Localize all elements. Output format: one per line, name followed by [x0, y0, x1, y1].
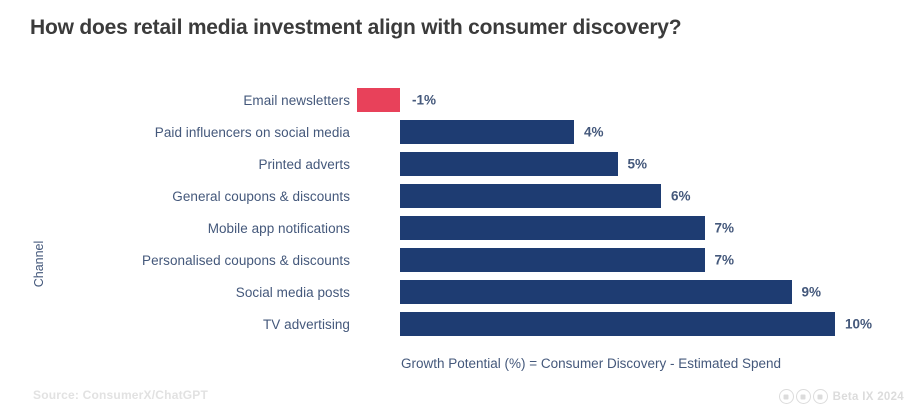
bar[interactable]	[400, 184, 661, 208]
bar-value-label: 9%	[802, 285, 822, 300]
bar-value-label: 6%	[671, 189, 691, 204]
bar-track: 7%	[0, 212, 912, 244]
plot-area: Channel Email newsletters-1%Paid influen…	[0, 84, 912, 352]
bar[interactable]	[400, 216, 705, 240]
bar-row: Mobile app notifications7%	[0, 212, 912, 244]
bar[interactable]	[400, 248, 705, 272]
bar-row: Printed adverts5%	[0, 148, 912, 180]
bar-row: General coupons & discounts6%	[0, 180, 912, 212]
chart-container: How does retail media investment align w…	[0, 0, 912, 420]
bar-track: 5%	[0, 148, 912, 180]
bar-row: Email newsletters-1%	[0, 84, 912, 116]
bar-value-label: 7%	[715, 221, 735, 236]
bar-row: Paid influencers on social media4%	[0, 116, 912, 148]
bar-value-label: -1%	[412, 93, 436, 108]
bar[interactable]	[357, 88, 401, 112]
watermark: Beta IX 2024	[779, 389, 904, 404]
bar-track: -1%	[0, 84, 912, 116]
page-title: How does retail media investment align w…	[30, 16, 681, 40]
bar-track: 6%	[0, 180, 912, 212]
source-note: Source: ConsumerX/ChatGPT	[33, 388, 208, 402]
bar[interactable]	[400, 312, 835, 336]
bar[interactable]	[400, 152, 618, 176]
bar-track: 9%	[0, 276, 912, 308]
bar-value-label: 4%	[584, 125, 604, 140]
bar[interactable]	[400, 120, 574, 144]
bar[interactable]	[400, 280, 792, 304]
bar-track: 4%	[0, 116, 912, 148]
bar-value-label: 10%	[845, 317, 872, 332]
bar-value-label: 7%	[715, 253, 735, 268]
x-axis-title: Growth Potential (%) = Consumer Discover…	[391, 356, 791, 371]
cc-icon	[779, 389, 794, 404]
bar-row: TV advertising10%	[0, 308, 912, 340]
by-icon	[796, 389, 811, 404]
bar-track: 10%	[0, 308, 912, 340]
bar-value-label: 5%	[628, 157, 648, 172]
bar-rows: Email newsletters-1%Paid influencers on …	[0, 84, 912, 346]
bar-track: 7%	[0, 244, 912, 276]
watermark-text: Beta IX 2024	[833, 391, 904, 403]
bar-row: Social media posts9%	[0, 276, 912, 308]
nd-icon	[813, 389, 828, 404]
bar-row: Personalised coupons & discounts7%	[0, 244, 912, 276]
